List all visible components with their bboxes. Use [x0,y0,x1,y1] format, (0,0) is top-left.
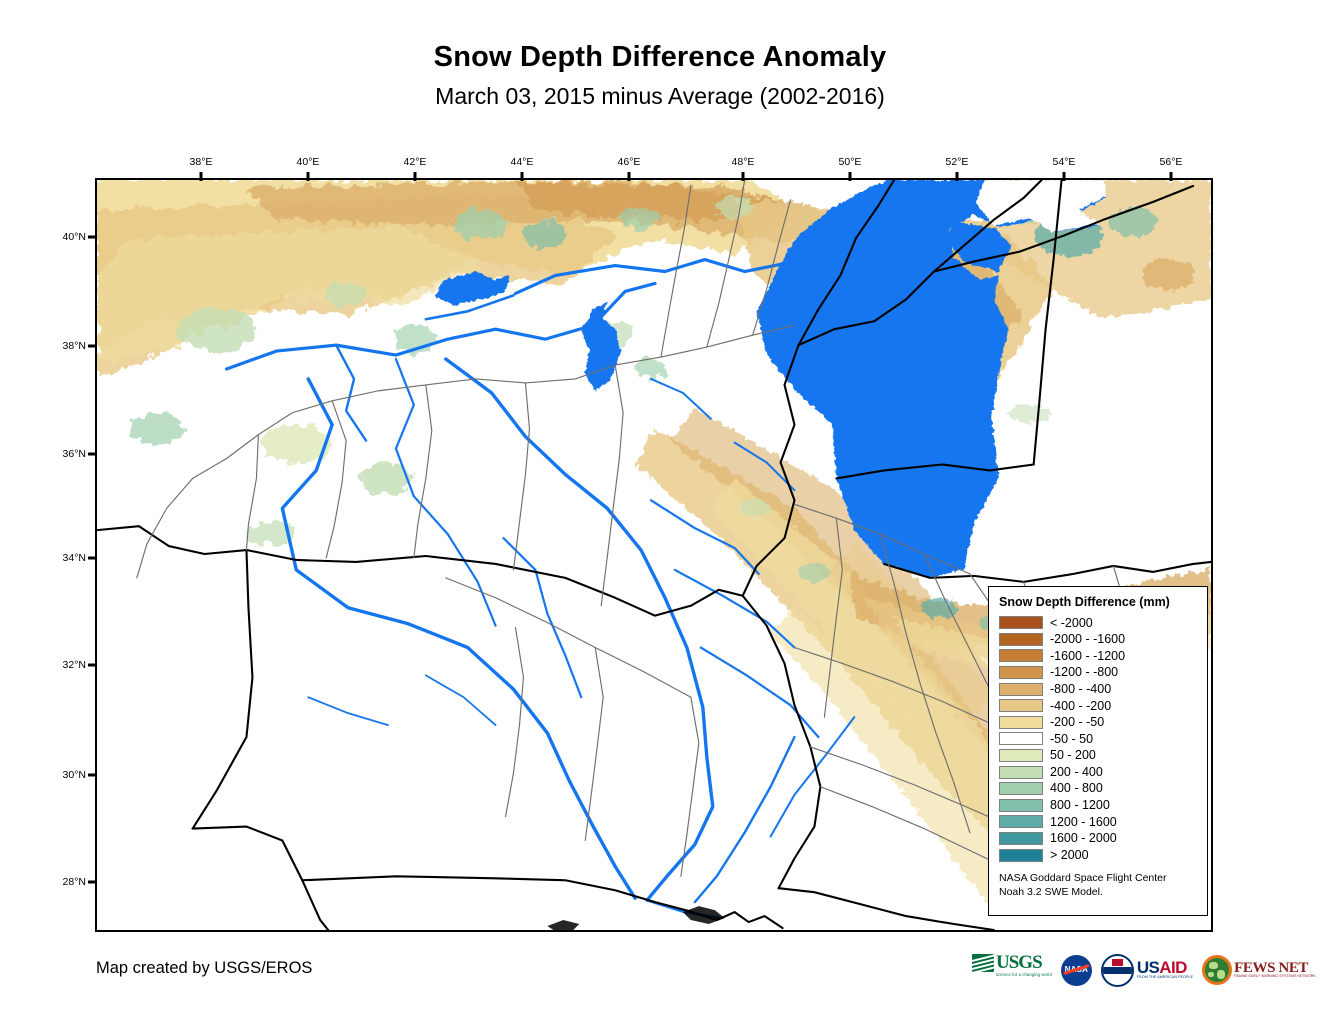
legend-label: -200 - -50 [1050,716,1104,729]
legend-row: -2000 - -1600 [999,631,1198,648]
lat-tickmark-38 [88,345,97,348]
legend-row: -800 - -400 [999,681,1198,698]
legend-row: 800 - 1200 [999,797,1198,814]
fews-globe-icon [1202,955,1232,985]
legend-title: Snow Depth Difference (mm) [999,596,1198,609]
legend-row: -400 - -200 [999,697,1198,714]
usgs-wordmark: USGS [996,954,1052,972]
legend-label: -50 - 50 [1050,733,1093,746]
lon-tick-38: 38°E [190,156,213,168]
page-title: Snow Depth Difference Anomaly [0,42,1320,72]
legend-row: 200 - 400 [999,764,1198,781]
usgs-wave-icon [972,954,994,972]
legend-label: > 2000 [1050,849,1089,862]
map-credit: Map created by USGS/EROS [96,959,312,978]
lon-tick-54: 54°E [1053,156,1076,168]
legend-swatch [999,716,1043,729]
caspian-north-notch [976,180,1106,232]
legend-label: 50 - 200 [1050,749,1096,762]
legend-label: -2000 - -1600 [1050,633,1125,646]
legend-items: < -2000-2000 - -1600-1600 - -1200-1200 -… [999,615,1198,864]
fews-wordmark: FEWS NET [1234,961,1316,975]
legend-swatch [999,766,1043,779]
legend-swatch [999,832,1043,845]
lat-tick-40: 40°N [54,231,86,243]
legend-swatch [999,649,1043,662]
legend-swatch [999,799,1043,812]
lat-tick-34: 34°N [54,552,86,564]
legend-row: 50 - 200 [999,747,1198,764]
lat-tick-32: 32°N [54,659,86,671]
lat-tick-38: 38°N [54,340,86,352]
lon-tick-42: 42°E [404,156,427,168]
usaid-tagline: FROM THE AMERICAN PEOPLE [1137,976,1193,980]
lon-tickmark-56 [1170,172,1173,181]
lon-tick-44: 44°E [511,156,534,168]
usaid-wordmark: USAID [1137,960,1193,976]
legend-row: 1200 - 1600 [999,814,1198,831]
legend-swatch [999,683,1043,696]
lon-tickmark-40 [307,172,310,181]
lon-tickmark-54 [1063,172,1066,181]
legend-swatch [999,666,1043,679]
legend-swatch [999,849,1043,862]
lon-tickmark-42 [414,172,417,181]
fews-net-logo: FEWS NET FAMINE EARLY WARNING SYSTEMS NE… [1202,954,1316,986]
lon-tickmark-50 [849,172,852,181]
lat-tick-30: 30°N [54,769,86,781]
lon-tick-50: 50°E [839,156,862,168]
map-legend: Snow Depth Difference (mm) < -2000-2000 … [988,586,1208,916]
usaid-logo: USAID FROM THE AMERICAN PEOPLE [1101,954,1193,986]
legend-label: 1600 - 2000 [1050,832,1117,845]
usgs-logo: USGS science for a changing world [972,954,1052,986]
lon-tick-48: 48°E [732,156,755,168]
legend-label: 800 - 1200 [1050,799,1110,812]
legend-label: 200 - 400 [1050,766,1103,779]
legend-row: -1200 - -800 [999,664,1198,681]
logo-bar: USGS science for a changing world NASA U… [972,952,1316,988]
legend-source: NASA Goddard Space Flight Center Noah 3.… [999,872,1198,898]
legend-row: 400 - 800 [999,780,1198,797]
usgs-tagline: science for a changing world [996,973,1052,977]
legend-label: -1600 - -1200 [1050,650,1125,663]
legend-label: 1200 - 1600 [1050,816,1117,829]
legend-source-line1: NASA Goddard Space Flight Center [999,872,1198,885]
legend-source-line2: Noah 3.2 SWE Model. [999,886,1198,899]
lon-tickmark-38 [200,172,203,181]
title-block: Snow Depth Difference Anomaly March 03, … [0,42,1320,109]
lon-tickmark-46 [628,172,631,181]
legend-row: -50 - 50 [999,731,1198,748]
legend-label: < -2000 [1050,617,1093,630]
legend-swatch [999,633,1043,646]
lat-tickmark-40 [88,236,97,239]
lon-tick-52: 52°E [946,156,969,168]
legend-label: -400 - -200 [1050,700,1111,713]
lon-tick-40: 40°E [297,156,320,168]
legend-swatch [999,616,1043,629]
lat-tickmark-32 [88,664,97,667]
lat-tickmark-36 [88,453,97,456]
lon-tickmark-44 [521,172,524,181]
legend-label: 400 - 800 [1050,782,1103,795]
legend-swatch [999,815,1043,828]
legend-swatch [999,732,1043,745]
lon-tickmark-48 [742,172,745,181]
lon-tick-56: 56°E [1160,156,1183,168]
legend-row: 1600 - 2000 [999,830,1198,847]
page-subtitle: March 03, 2015 minus Average (2002-2016) [0,84,1320,108]
lat-tick-36: 36°N [54,448,86,460]
legend-swatch [999,782,1043,795]
legend-label: -1200 - -800 [1050,666,1118,679]
legend-row: < -2000 [999,615,1198,632]
lon-tickmark-52 [956,172,959,181]
legend-row: > 2000 [999,847,1198,864]
lat-tick-28: 28°N [54,876,86,888]
legend-row: -1600 - -1200 [999,648,1198,665]
nasa-logo: NASA [1061,954,1092,986]
fews-tagline: FAMINE EARLY WARNING SYSTEMS NETWORK [1234,975,1316,979]
lat-tickmark-28 [88,881,97,884]
lon-tick-46: 46°E [618,156,641,168]
lat-tickmark-34 [88,557,97,560]
legend-label: -800 - -400 [1050,683,1111,696]
legend-swatch [999,749,1043,762]
legend-swatch [999,699,1043,712]
legend-row: -200 - -50 [999,714,1198,731]
usaid-seal-icon [1101,954,1134,987]
lat-tickmark-30 [88,774,97,777]
